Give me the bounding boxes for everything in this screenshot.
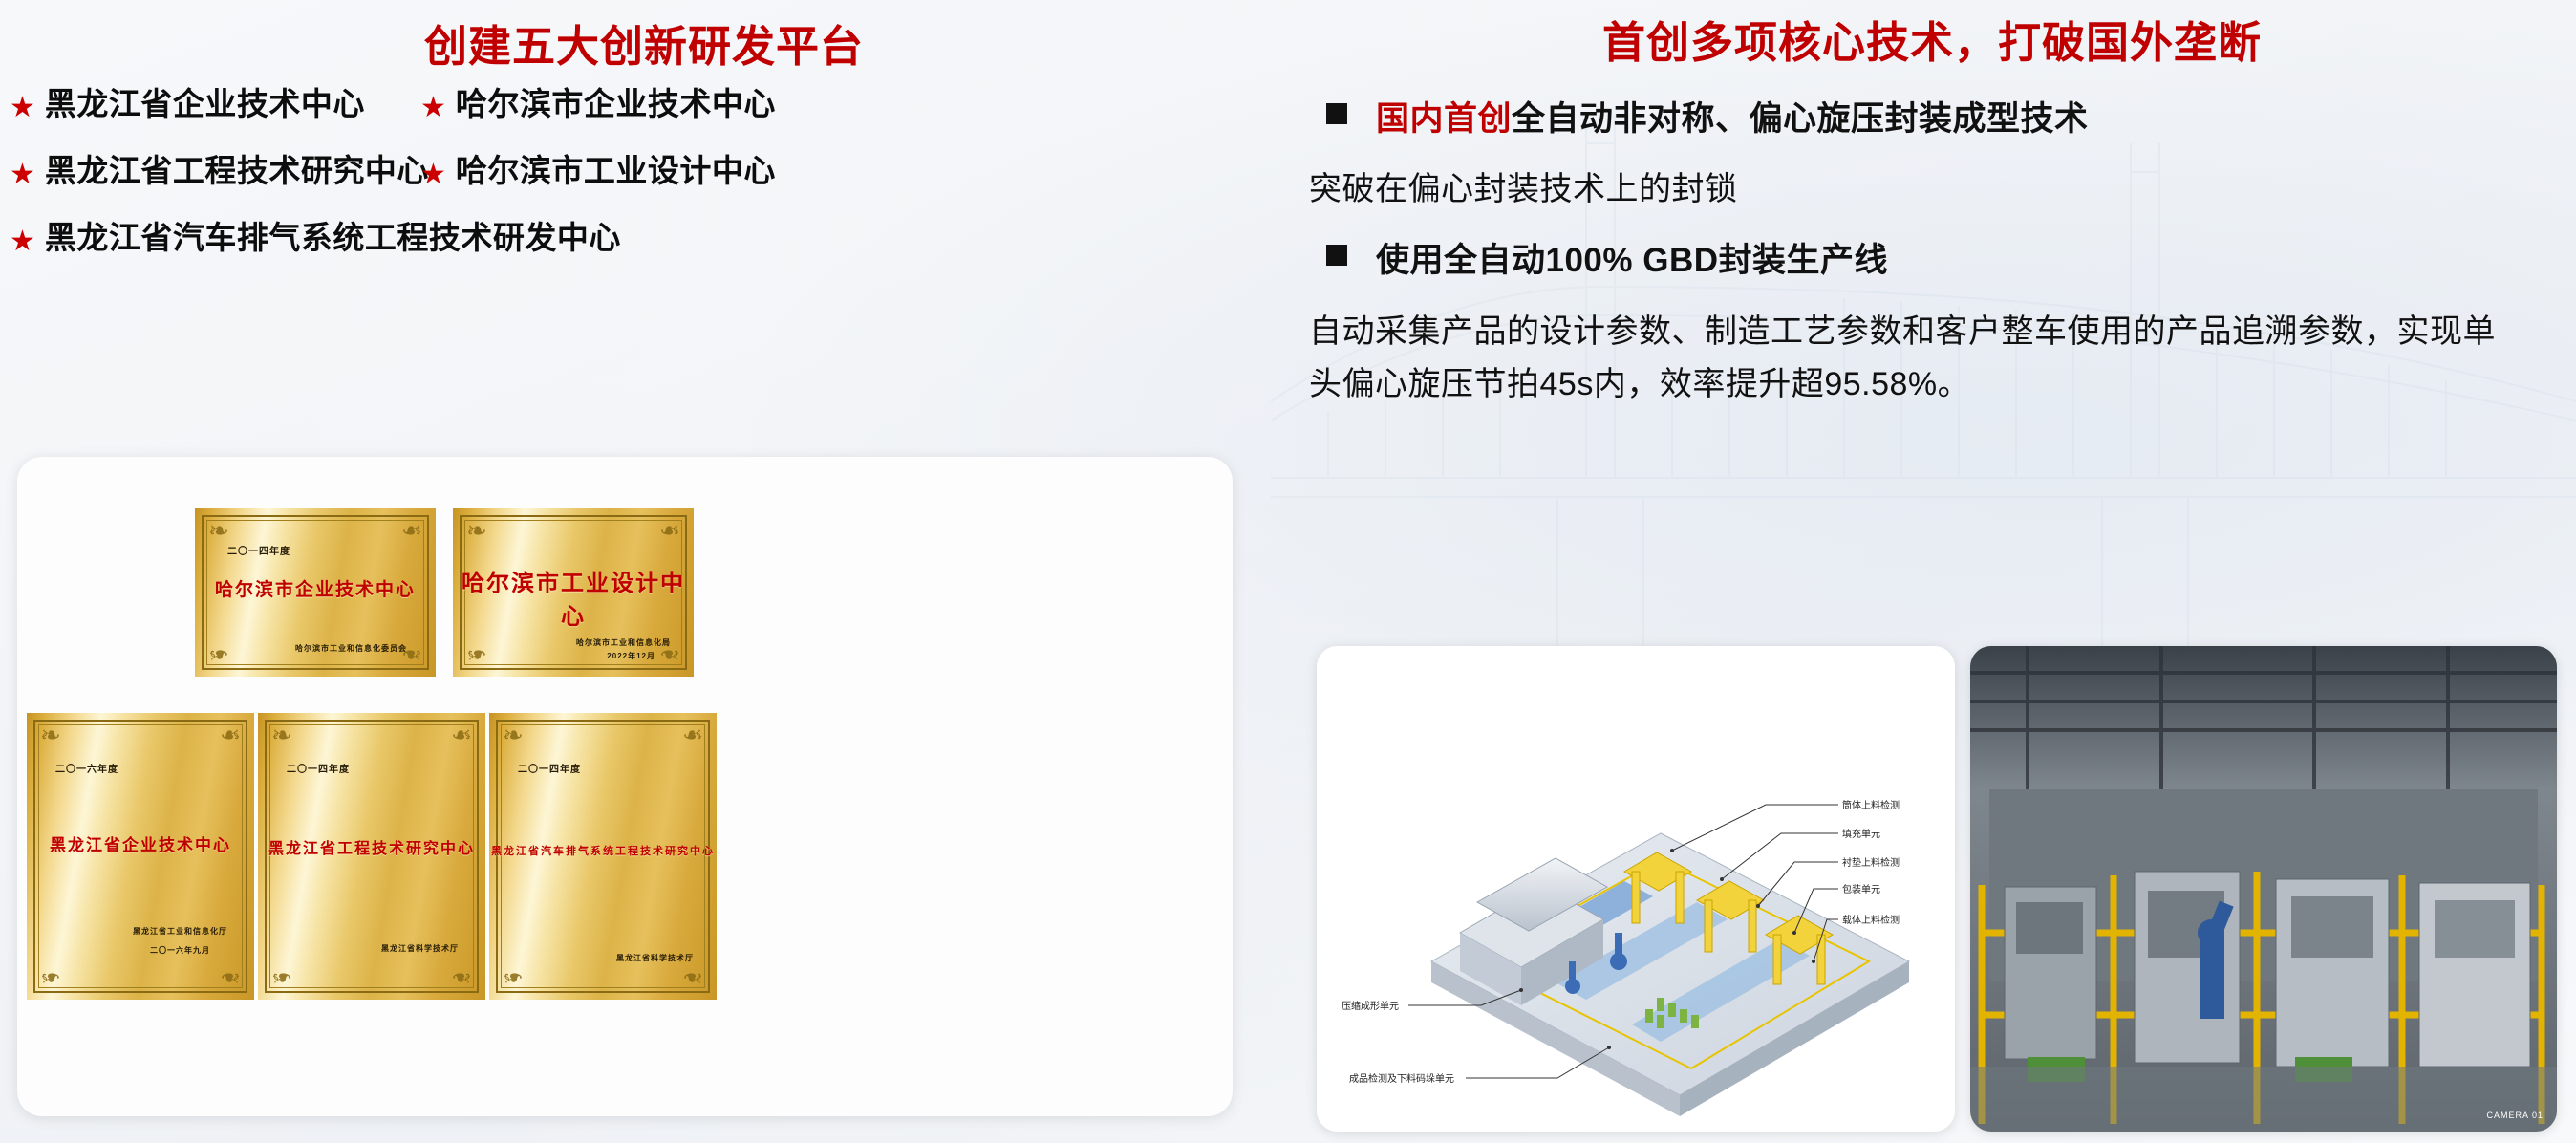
plaque-year: 二〇一四年度 (287, 761, 350, 775)
corner-ornament-icon: ❧ (34, 719, 67, 751)
star-icon: ★ (10, 227, 35, 256)
square-bullet-icon (1326, 103, 1347, 124)
plaque-date: 2022年12月 (607, 651, 655, 661)
right-subtext-1: 突破在偏心封装技术上的封锁 (1309, 162, 2542, 209)
right-bullet-1: 国内首创全自动非对称、偏心旋压封装成型技术 (1326, 92, 2559, 140)
diagram-label-5: 压缩成形单元 (1342, 998, 1399, 1012)
slide-root: 创建五大创新研发平台 ★ 黑龙江省企业技术中心 ★ 哈尔滨市企业技术中心 ★ 黑… (0, 0, 2576, 1143)
plaque-issuer: 黑龙江省科学技术厅 (381, 943, 459, 954)
certificate-gallery: ❧ ❧ ❧ ❧ 二〇一四年度 哈尔滨市企业技术中心 哈尔滨市工业和信息化委员会 … (17, 457, 1233, 1116)
corner-ornament-icon: ❧ (266, 961, 298, 994)
list-item-label: 哈尔滨市工业设计中心 (456, 145, 776, 191)
corner-ornament-icon: ❧ (34, 961, 67, 994)
corner-ornament-icon: ❧ (445, 961, 478, 994)
plaque-harbin-industrial-design-center: ❧ ❧ ❧ ❧ 哈尔滨市工业设计中心 哈尔滨市工业和信息化局 2022年12月 (453, 508, 694, 677)
plaque-title: 哈尔滨市工业设计中心 (453, 564, 694, 631)
plaque-heilongjiang-enterprise-tech-center: ❧ ❧ ❧ ❧ 二〇一六年度 黑龙江省企业技术中心 黑龙江省工业和信息化厅 二〇… (27, 713, 254, 1000)
platform-list: ★ 黑龙江省企业技术中心 ★ 哈尔滨市企业技术中心 ★ 黑龙江省工程技术研究中心… (10, 78, 1280, 279)
list-item-label: 黑龙江省工程技术研究中心 (45, 145, 429, 191)
bullet-1-text: 国内首创全自动非对称、偏心旋压封装成型技术 (1376, 92, 2089, 140)
plaque-year: 二〇一六年度 (55, 761, 118, 775)
corner-ornament-icon: ❧ (214, 719, 247, 751)
plaque-date: 二〇一六年九月 (150, 945, 210, 956)
platform-row-1: ★ 黑龙江省企业技术中心 ★ 哈尔滨市企业技术中心 (10, 78, 1280, 124)
diagram-label-6: 成品检测及下料码垛单元 (1349, 1070, 1454, 1085)
diagram-label-4: 载体上料检测 (1842, 912, 1900, 926)
platform-row-2: ★ 黑龙江省工程技术研究中心 ★ 哈尔滨市工业设计中心 (10, 145, 1280, 191)
corner-ornament-icon: ❧ (676, 719, 709, 751)
corner-ornament-icon: ❧ (396, 514, 428, 547)
platform-row-3: ★ 黑龙江省汽车排气系统工程技术研发中心 (10, 212, 1280, 258)
corner-ornament-icon: ❧ (654, 514, 686, 547)
plaque-issuer: 黑龙江省科学技术厅 (616, 953, 694, 963)
plaque-title: 黑龙江省企业技术中心 (27, 831, 254, 855)
list-item-label: 黑龙江省汽车排气系统工程技术研发中心 (45, 212, 621, 258)
photo-caption: CAMERA 01 (2486, 1111, 2544, 1120)
list-item-label: 黑龙江省企业技术中心 (45, 78, 365, 124)
plaque-issuer: 哈尔滨市工业和信息化局 (576, 637, 671, 648)
corner-ornament-icon: ❧ (445, 719, 478, 751)
plaque-year: 二〇一四年度 (227, 543, 290, 557)
list-item: ★ 哈尔滨市工业设计中心 (420, 145, 1280, 191)
corner-ornament-icon: ❧ (676, 961, 709, 994)
list-item-label: 哈尔滨市企业技术中心 (456, 78, 776, 124)
right-bullet-2: 使用全自动100% GBD封装生产线 (1326, 233, 2559, 282)
corner-ornament-icon: ❧ (214, 961, 247, 994)
star-icon: ★ (10, 161, 35, 189)
list-item: ★ 黑龙江省工程技术研究中心 (10, 145, 420, 191)
left-heading: 创建五大创新研发平台 (0, 11, 1288, 74)
plaque-title: 黑龙江省工程技术研究中心 (258, 835, 485, 858)
list-item: ★ 黑龙江省企业技术中心 (10, 78, 420, 124)
diagram-label-3: 包装单元 (1842, 881, 1880, 895)
photo-svg (1970, 646, 2557, 1132)
plaque-issuer: 黑龙江省工业和信息化厅 (133, 926, 227, 937)
right-heading: 首创多项核心技术，打破国外垄断 (1288, 8, 2576, 70)
diagram-label-0: 筒体上料检测 (1842, 797, 1900, 811)
star-icon: ★ (420, 161, 446, 189)
plaque-heilongjiang-exhaust-system-research-center: ❧ ❧ ❧ ❧ 二〇一四年度 黑龙江省汽车排气系统工程技术研究中心 黑龙江省科学… (489, 713, 717, 1000)
plaque-year: 二〇一四年度 (518, 761, 581, 775)
star-icon: ★ (420, 94, 446, 122)
corner-ornament-icon: ❧ (266, 719, 298, 751)
list-item: ★ 哈尔滨市企业技术中心 (420, 78, 1280, 124)
diagram-label-1: 填充单元 (1842, 826, 1880, 840)
list-item: ★ 黑龙江省汽车排气系统工程技术研发中心 (10, 212, 1280, 258)
corner-ornament-icon: ❧ (203, 514, 235, 547)
corner-ornament-icon: ❧ (203, 638, 235, 671)
diagram-label-2: 衬垫上料检测 (1842, 854, 1900, 869)
plaque-harbin-enterprise-tech-center: ❧ ❧ ❧ ❧ 二〇一四年度 哈尔滨市企业技术中心 哈尔滨市工业和信息化委员会 (195, 508, 436, 677)
plaque-heilongjiang-engineering-tech-research-center: ❧ ❧ ❧ ❧ 二〇一四年度 黑龙江省工程技术研究中心 黑龙江省科学技术厅 (258, 713, 485, 1000)
corner-ornament-icon: ❧ (497, 961, 529, 994)
left-column: 创建五大创新研发平台 ★ 黑龙江省企业技术中心 ★ 哈尔滨市企业技术中心 ★ 黑… (0, 0, 1288, 1143)
square-bullet-icon (1326, 245, 1347, 266)
plaque-issuer: 哈尔滨市工业和信息化委员会 (295, 643, 407, 654)
factory-floor-photo: CAMERA 01 (1970, 646, 2557, 1132)
corner-ornament-icon: ❧ (461, 514, 493, 547)
star-icon: ★ (10, 94, 35, 122)
bullet-2-text: 使用全自动100% GBD封装生产线 (1376, 233, 1888, 282)
right-paragraph: 自动采集产品的设计参数、制造工艺参数和客户整车使用的产品追溯参数，实现单头偏心旋… (1309, 306, 2503, 411)
corner-ornament-icon: ❧ (497, 719, 529, 751)
bullet-1-highlight: 国内首创 (1376, 100, 1512, 138)
production-line-diagram: 筒体上料检测 填充单元 衬垫上料检测 包装单元 载体上料检测 压缩成形单元 成品… (1317, 646, 1955, 1132)
bullet-1-rest: 全自动非对称、偏心旋压封装成型技术 (1512, 100, 2089, 138)
plaque-title: 黑龙江省汽车排气系统工程技术研究中心 (489, 843, 717, 858)
plaque-title: 哈尔滨市企业技术中心 (195, 575, 436, 601)
corner-ornament-icon: ❧ (461, 638, 493, 671)
